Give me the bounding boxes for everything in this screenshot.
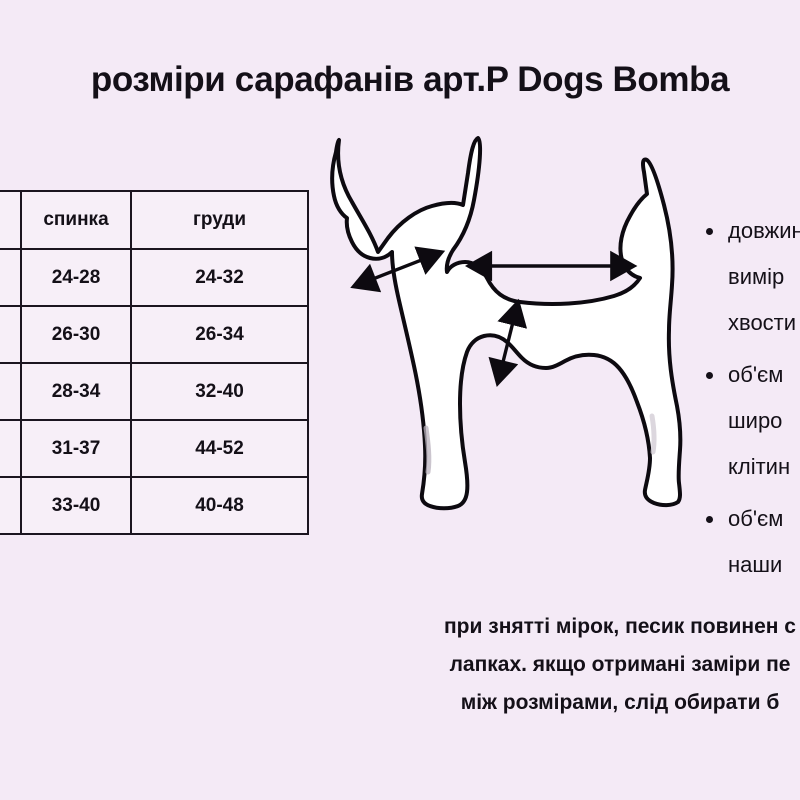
cell-back: 28-34: [21, 363, 131, 420]
column-header-back: спинка: [21, 191, 131, 249]
cell-chest: 26-34: [131, 306, 308, 363]
note-line: хвости: [728, 310, 796, 335]
table-row: S 26-30 26-34: [0, 306, 308, 363]
list-item: довжина вимір хвости: [700, 208, 800, 346]
bullet-icon: [706, 372, 713, 379]
note-line: об'єм: [728, 362, 783, 387]
cell-back: 24-28: [21, 249, 131, 306]
size-chart-page: розміри сарафанів арт.P Dogs Bomba розмі…: [0, 0, 800, 800]
cell-size: XL: [0, 477, 21, 534]
column-header-size: розмір: [0, 191, 21, 249]
cell-chest: 40-48: [131, 477, 308, 534]
cell-size: S: [0, 306, 21, 363]
cell-size: M: [0, 363, 21, 420]
page-title: розміри сарафанів арт.P Dogs Bomba: [0, 60, 800, 100]
table-header-row: розмір спинка груди: [0, 191, 308, 249]
cell-size: XS: [0, 249, 21, 306]
note-line: широ: [728, 408, 782, 433]
bottom-note-line: лапках. якщо отримані заміри пе: [240, 646, 800, 684]
note-line: клітин: [728, 454, 790, 479]
table-row: XL 33-40 40-48: [0, 477, 308, 534]
cell-back: 31-37: [21, 420, 131, 477]
cell-chest: 24-32: [131, 249, 308, 306]
dog-illustration: [322, 110, 704, 532]
cell-chest: 32-40: [131, 363, 308, 420]
cell-back: 33-40: [21, 477, 131, 534]
size-table: розмір спинка груди XS 24-28 24-32 S 26-…: [0, 190, 309, 535]
note-line: довжина: [728, 218, 800, 243]
note-line: вимір: [728, 264, 784, 289]
bullet-icon: [706, 516, 713, 523]
list-item: об'єм наши: [700, 496, 800, 588]
table-row: L 31-37 44-52: [0, 420, 308, 477]
bottom-note-line: при знятті мірок, песик повинен с: [240, 608, 800, 646]
bottom-instruction: при знятті мірок, песик повинен с лапках…: [240, 608, 800, 722]
cell-back: 26-30: [21, 306, 131, 363]
column-header-chest: груди: [131, 191, 308, 249]
bullet-icon: [706, 228, 713, 235]
table-row: XS 24-28 24-32: [0, 249, 308, 306]
bottom-note-line: між розмірами, слід обирати б: [240, 684, 800, 722]
measurement-notes-list: довжина вимір хвости об'єм широ клітин о…: [700, 208, 800, 594]
list-item: об'єм широ клітин: [700, 352, 800, 490]
dog-silhouette-icon: [322, 110, 704, 532]
note-line: об'єм: [728, 506, 783, 531]
note-line: наши: [728, 552, 782, 577]
cell-size: L: [0, 420, 21, 477]
table-row: M 28-34 32-40: [0, 363, 308, 420]
cell-chest: 44-52: [131, 420, 308, 477]
